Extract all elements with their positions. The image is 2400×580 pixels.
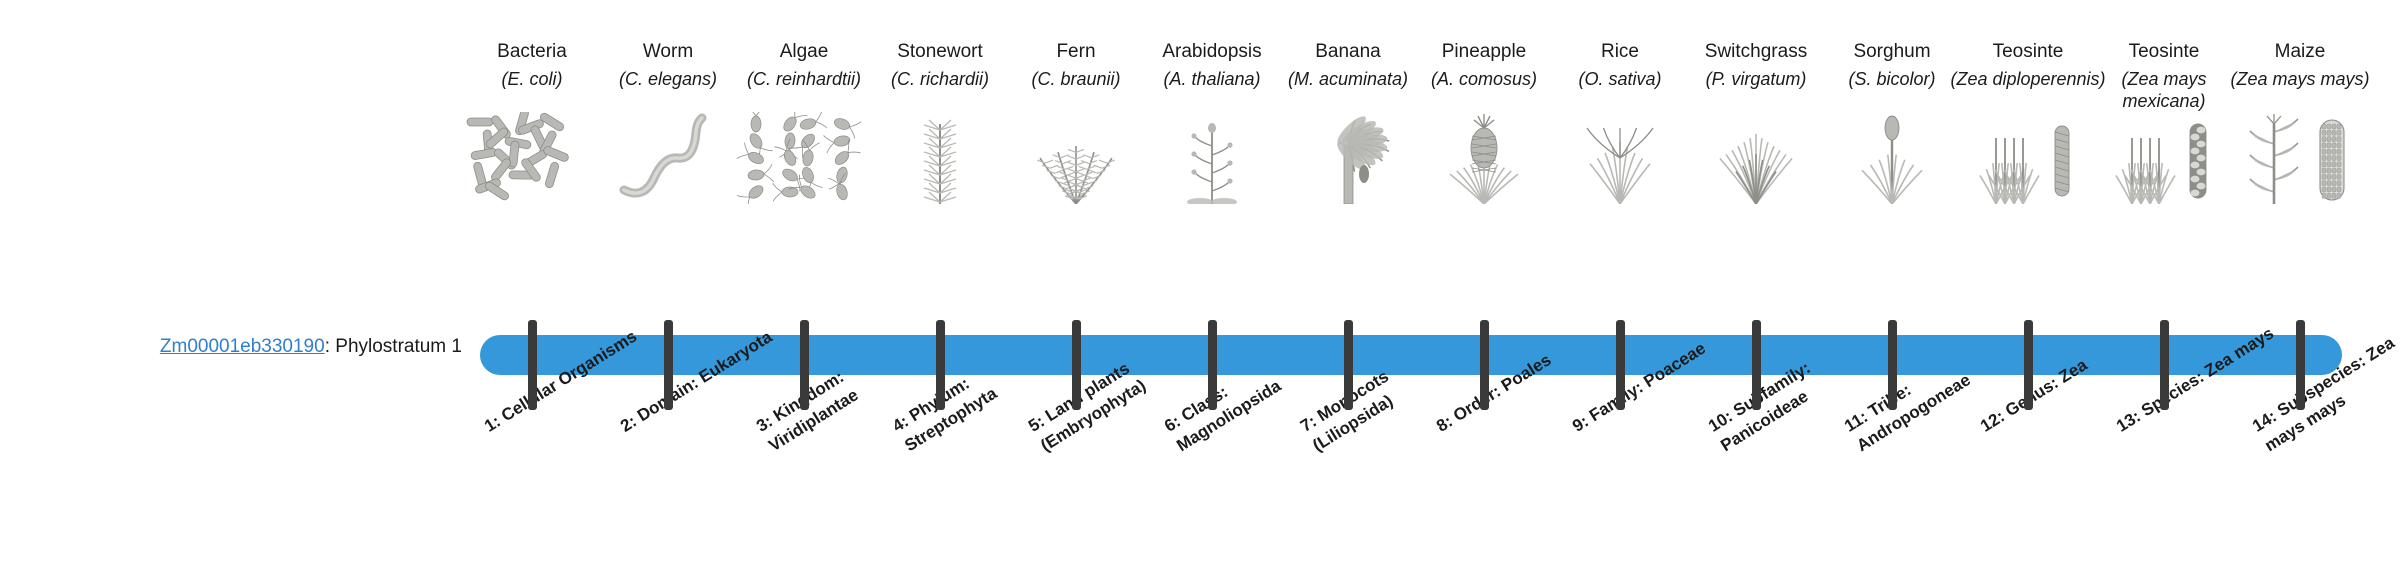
phylostratum-tick [528, 320, 537, 410]
bacteria-icon [462, 112, 602, 204]
timeline-column-rice: Rice(O. sativa)9: Family: Poaceae [1550, 0, 1690, 580]
phylostratum-tick [2024, 320, 2033, 410]
timeline-column-bacteria: Bacteria(E. coli)1: Cellular Organisms [462, 0, 602, 580]
taxonomic-rank-label: 14: Subspecies: Zea mays mays [2248, 317, 2400, 457]
gene-label-separator: : [325, 336, 336, 357]
phylostratum-tick [2296, 320, 2305, 410]
teosinte-mexicana-icon [2094, 112, 2234, 204]
pineapple-icon [1414, 112, 1554, 204]
timeline-column-algae: Algae(C. reinhardtii) [734, 0, 874, 580]
timeline-column-banana: Banana(M. acuminata) 7: Monocots (Liliop… [1278, 0, 1418, 580]
timeline-column-sorghum: Sorghum(S. bicolor)11: Tribe: Andropogon… [1822, 0, 1962, 580]
phylostratum-tick [1752, 320, 1761, 410]
phylostratum-tick [1344, 320, 1353, 410]
timeline-column-teosinte: Teosinte(Zea diploperennis)12: Genus: Ze… [1958, 0, 2098, 580]
timeline-column-worm: Worm(C. elegans) 2: Domain: Eukaryota [598, 0, 738, 580]
gene-phylostratum-label: Zm00001eb330190: Phylostratum 1 [42, 336, 462, 358]
timeline-column-teosinte: Teosinte(Zea mays mexicana)13: Species: … [2094, 0, 2234, 580]
algae-icon [734, 112, 874, 204]
sorghum-icon [1822, 112, 1962, 204]
phylostratum-tick [1072, 320, 1081, 410]
timeline-column-pineapple: Pineapple(A. comosus)8: Order: Poales [1414, 0, 1554, 580]
maize-icon [2230, 112, 2370, 204]
gene-id-link[interactable]: Zm00001eb330190 [160, 336, 325, 357]
rice-icon [1550, 112, 1690, 204]
banana-icon [1278, 112, 1418, 204]
timeline-column-maize: Maize(Zea mays mays) 14: Subspecies: Zea… [2230, 0, 2370, 580]
timeline-column-arabidopsis: Arabidopsis(A. thaliana) 6: Class: Magno… [1142, 0, 1282, 580]
phylostratum-value: Phylostratum 1 [335, 336, 462, 357]
timeline-column-fern: Fern(C. braunii)5: Land plants (Embryoph… [1006, 0, 1146, 580]
phylostratum-tick [1208, 320, 1217, 410]
timeline-column-stonewort: Stonewort(C. richardii)4: Phylum: Strept… [870, 0, 1010, 580]
phylostratum-timeline: Zm00001eb330190: Phylostratum 1 Bacteria… [0, 0, 2400, 580]
stonewort-icon [870, 112, 1010, 204]
species-latin-name: (Zea mays mays) [2218, 68, 2382, 90]
phylostratum-tick [800, 320, 809, 410]
worm-icon [598, 112, 738, 204]
timeline-column-switchgrass: Switchgrass(P. virgatum)10: Subfamily: P… [1686, 0, 1826, 580]
switchgrass-icon [1686, 112, 1826, 204]
phylostratum-tick [1616, 320, 1625, 410]
phylostratum-tick [1480, 320, 1489, 410]
fern-icon [1006, 112, 1146, 204]
phylostratum-tick [936, 320, 945, 410]
teosinte-diploperennis-icon [1958, 112, 2098, 204]
phylostratum-tick [664, 320, 673, 410]
phylostratum-tick [2160, 320, 2169, 410]
species-common-name: Maize [2218, 40, 2382, 63]
phylostratum-tick [1888, 320, 1897, 410]
arabidopsis-icon [1142, 112, 1282, 204]
